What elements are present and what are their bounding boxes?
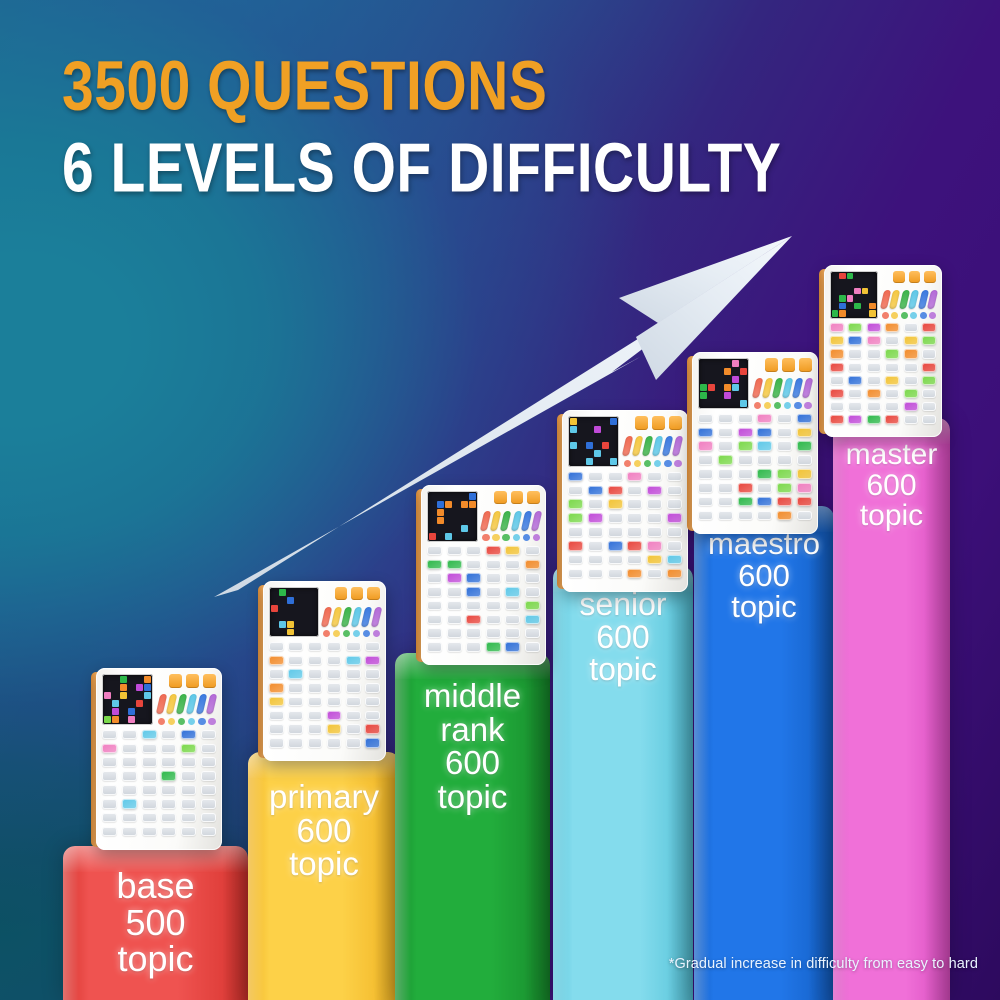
lcd-pixel <box>120 700 127 707</box>
lcd-pixel <box>862 310 868 317</box>
keypad-tile-empty <box>608 527 623 537</box>
lcd-pixel <box>716 400 723 407</box>
lcd-pixel <box>862 295 868 302</box>
keypad-tile-empty <box>288 738 303 748</box>
keypad-tile-empty <box>181 813 196 823</box>
lcd-pixel <box>287 629 294 636</box>
lcd-pixel <box>445 517 452 524</box>
keypad-tile-filled <box>505 587 520 597</box>
lcd-pixel <box>700 376 707 383</box>
device-dot-icon <box>804 402 811 409</box>
keypad-tile-empty <box>142 813 157 823</box>
keypad-tile-filled <box>848 376 862 385</box>
keypad-tile-empty <box>181 827 196 837</box>
lcd-pixel <box>854 273 860 280</box>
keypad-tile-filled <box>885 376 899 385</box>
keypad-tile-filled <box>667 555 682 565</box>
keypad-tile-empty <box>181 771 196 781</box>
device-dot-icon <box>774 402 781 409</box>
keypad-tile-empty <box>288 711 303 721</box>
keypad-tile-empty <box>848 402 862 411</box>
lcd-pixel <box>854 303 860 310</box>
keypad-tile-filled <box>738 428 753 438</box>
lcd-pixel <box>570 458 577 465</box>
lcd-pixel <box>602 434 609 441</box>
lcd-pixel <box>310 589 317 596</box>
lcd-pixel <box>839 280 845 287</box>
lcd-pixel <box>708 360 715 367</box>
device-dot-icon <box>901 312 908 319</box>
keypad-tile-filled <box>627 569 642 579</box>
keypad-tile-filled <box>777 497 792 507</box>
keypad-tile-empty <box>308 642 323 652</box>
keypad-tile-empty <box>201 730 216 740</box>
keypad-tile-empty <box>201 813 216 823</box>
keypad-tile-filled <box>867 389 881 398</box>
lcd-pixel <box>271 629 278 636</box>
device-button-icon <box>782 358 795 371</box>
lcd-pixel <box>429 525 436 532</box>
device-dot-icon <box>158 718 165 725</box>
lcd-pixel <box>847 273 853 280</box>
lcd-pixel <box>862 288 868 295</box>
device-inner <box>263 581 386 761</box>
device-dot-icon <box>674 460 681 467</box>
lcd-pixel <box>104 684 111 691</box>
device-button-icon <box>186 674 199 687</box>
keypad-tile-filled <box>427 560 442 570</box>
keypad-tile-empty <box>346 683 361 693</box>
bar-label-primary: primary600topic <box>248 780 400 881</box>
lcd-pixel <box>586 442 593 449</box>
lcd-pixel <box>610 458 617 465</box>
keypad-tile-empty <box>181 785 196 795</box>
keypad-tile-empty <box>738 455 753 465</box>
lcd-pixel <box>700 392 707 399</box>
lcd-pixel <box>144 692 151 699</box>
keypad-tile-filled <box>568 472 583 482</box>
keypad-tile-empty <box>922 415 936 424</box>
keypad-tile-filled <box>161 771 176 781</box>
lcd-pixel <box>869 273 875 280</box>
keypad-tile-empty <box>608 513 623 523</box>
keypad-tile-empty <box>122 771 137 781</box>
keypad-tile-filled <box>797 469 812 479</box>
keypad-tile-empty <box>525 642 540 652</box>
keypad-tile-empty <box>346 711 361 721</box>
headline-line-2: 6 LEVELS OF DIFFICULTY <box>62 134 781 204</box>
lcd-pixel <box>453 517 460 524</box>
keypad-tile-filled <box>718 455 733 465</box>
device-pill-icon <box>672 436 684 456</box>
keypad-tile-empty <box>427 601 442 611</box>
lcd-pixel <box>578 450 585 457</box>
lcd-pixel <box>724 384 731 391</box>
keypad-tile-empty <box>308 724 323 734</box>
lcd-pixel <box>295 589 302 596</box>
device-dot-icon <box>363 630 370 637</box>
keypad-tile-filled <box>830 323 844 332</box>
lcd-pixel <box>271 621 278 628</box>
keypad-tile-empty <box>142 799 157 809</box>
bar-level-name: primary <box>248 780 400 814</box>
lcd-pixel <box>700 368 707 375</box>
keypad-tile-empty <box>269 738 284 748</box>
keypad-tile-empty <box>486 628 501 638</box>
lcd-pixel <box>708 384 715 391</box>
keypad-tile-filled <box>777 483 792 493</box>
keypad-tile-empty <box>777 414 792 424</box>
keypad-tile-empty <box>627 555 642 565</box>
keypad-tile-empty <box>568 569 583 579</box>
lcd-pixel <box>469 509 476 516</box>
keypad-tile-empty <box>797 511 812 521</box>
keypad-tile-empty <box>102 813 117 823</box>
keypad-tile-filled <box>904 336 918 345</box>
device-color-pills <box>754 375 812 399</box>
keypad-tile-empty <box>447 601 462 611</box>
keypad-tile-empty <box>647 513 662 523</box>
lcd-pixel <box>445 493 452 500</box>
keypad-tile-empty <box>757 455 772 465</box>
keypad-tile-filled <box>698 428 713 438</box>
headline-line-1: 3500 QUESTIONS <box>62 52 781 122</box>
lcd-pixel <box>708 392 715 399</box>
bar-middle-rank: middlerank600topic <box>395 653 550 1000</box>
lcd-pixel <box>740 392 747 399</box>
lcd-pixel <box>832 288 838 295</box>
keypad-tile-empty <box>718 469 733 479</box>
keypad-tile-empty <box>365 683 380 693</box>
keypad-tile-empty <box>647 527 662 537</box>
lcd-pixel <box>437 509 444 516</box>
lcd-pixel <box>570 442 577 449</box>
device-color-pills <box>882 286 936 309</box>
device-inner <box>421 485 546 665</box>
keypad-tile-empty <box>122 744 137 754</box>
lcd-pixel <box>437 501 444 508</box>
keypad-tile-empty <box>647 569 662 579</box>
lcd-pixel <box>832 310 838 317</box>
keypad-tile-empty <box>525 546 540 555</box>
keypad-tile-empty <box>161 730 176 740</box>
keypad-tile-empty <box>308 711 323 721</box>
device-button-icon <box>511 491 524 504</box>
lcd-pixel <box>461 501 468 508</box>
keypad-tile-empty <box>848 389 862 398</box>
keypad-tile-empty <box>466 560 481 570</box>
headline-block: 3500 QUESTIONS 6 LEVELS OF DIFFICULTY <box>62 52 781 191</box>
keypad-tile-empty <box>568 555 583 565</box>
device-controls <box>624 416 682 467</box>
bar-level-name: senior <box>553 588 693 621</box>
keypad-tile-filled <box>738 483 753 493</box>
lcd-pixel <box>832 280 838 287</box>
device-dot-icon <box>882 312 889 319</box>
lcd-pixel <box>310 629 317 636</box>
keypad-tile-empty <box>161 813 176 823</box>
keypad-tile-empty <box>142 827 157 837</box>
device-controls <box>482 491 539 541</box>
device-dot-icon <box>178 718 185 725</box>
device-keypad <box>698 414 811 521</box>
keypad-tile-empty <box>269 724 284 734</box>
keypad-tile-filled <box>588 486 603 496</box>
keypad-tile-empty <box>667 541 682 551</box>
keypad-tile-filled <box>830 389 844 398</box>
device-top-row <box>269 587 380 637</box>
keypad-tile-filled <box>922 323 936 332</box>
keypad-tile-filled <box>142 730 157 740</box>
lcd-pixel <box>128 684 135 691</box>
lcd-pixel <box>740 376 747 383</box>
lcd-pixel <box>302 597 309 604</box>
lcd-pixel <box>279 605 286 612</box>
lcd-pixel <box>594 418 601 425</box>
lcd-pixel <box>578 426 585 433</box>
keypad-tile-filled <box>738 497 753 507</box>
device-dot-icon <box>929 312 936 319</box>
lcd-pixel <box>724 392 731 399</box>
keypad-tile-filled <box>738 441 753 451</box>
lcd-pixel <box>586 426 593 433</box>
device-button-icon <box>169 674 182 687</box>
keypad-tile-empty <box>427 546 442 555</box>
lcd-pixel <box>453 493 460 500</box>
bar-label-senior: senior600topic <box>553 588 693 686</box>
device-pill-icon <box>370 607 382 627</box>
lcd-pixel <box>302 613 309 620</box>
device-keypad <box>830 323 936 424</box>
keypad-tile-empty <box>161 799 176 809</box>
keypad-tile-empty <box>505 573 520 583</box>
lcd-pixel <box>570 418 577 425</box>
lcd-pixel <box>128 676 135 683</box>
keypad-tile-empty <box>269 669 284 679</box>
keypad-tile-empty <box>346 697 361 707</box>
lcd-pixel <box>602 458 609 465</box>
keypad-tile-empty <box>867 402 881 411</box>
keypad-tile-empty <box>102 827 117 837</box>
keypad-tile-empty <box>777 455 792 465</box>
keypad-tile-empty <box>568 527 583 537</box>
keypad-tile-empty <box>830 376 844 385</box>
keypad-tile-filled <box>797 441 812 451</box>
keypad-tile-filled <box>327 711 342 721</box>
lcd-pixel <box>716 360 723 367</box>
keypad-tile-empty <box>667 486 682 496</box>
lcd-pixel <box>602 450 609 457</box>
lcd-pixel <box>847 310 853 317</box>
keypad-tile-empty <box>867 363 881 372</box>
keypad-tile-empty <box>738 414 753 424</box>
bar-topic-count: 600 <box>553 621 693 654</box>
lcd-pixel <box>847 303 853 310</box>
keypad-tile-filled <box>797 497 812 507</box>
keypad-tile-empty <box>830 402 844 411</box>
keypad-tile-empty <box>122 785 137 795</box>
lcd-pixel <box>578 434 585 441</box>
keypad-tile-empty <box>288 724 303 734</box>
device-dot-icon <box>168 718 175 725</box>
puzzle-device-senior <box>562 410 688 592</box>
keypad-tile-empty <box>308 656 323 666</box>
lcd-pixel <box>120 716 127 723</box>
lcd-pixel <box>839 310 845 317</box>
lcd-pixel <box>453 501 460 508</box>
lcd-pixel <box>287 589 294 596</box>
keypad-tile-empty <box>885 402 899 411</box>
lcd-pixel <box>295 621 302 628</box>
bar-topic-unit: topic <box>248 847 400 881</box>
lcd-pixel <box>740 384 747 391</box>
keypad-tile-empty <box>667 472 682 482</box>
keypad-tile-empty <box>848 363 862 372</box>
lcd-pixel <box>136 708 143 715</box>
device-indicator-dots <box>482 534 539 541</box>
bar-label-base: base500topic <box>63 868 248 978</box>
device-button-icon <box>335 587 347 600</box>
keypad-tile-empty <box>327 642 342 652</box>
lcd-pixel <box>429 501 436 508</box>
lcd-pixel <box>862 280 868 287</box>
keypad-tile-empty <box>466 546 481 555</box>
lcd-pixel <box>136 716 143 723</box>
footnote-text: *Gradual increase in difficulty from eas… <box>669 956 978 972</box>
lcd-pixel <box>862 273 868 280</box>
lcd-pixel <box>445 509 452 516</box>
device-button-icon <box>652 416 665 429</box>
keypad-tile-filled <box>867 323 881 332</box>
keypad-tile-empty <box>466 601 481 611</box>
bar-level-name: master <box>833 440 950 471</box>
lcd-pixel <box>469 533 476 540</box>
device-dot-icon <box>654 460 661 467</box>
keypad-tile-empty <box>427 628 442 638</box>
device-dot-icon <box>492 534 499 541</box>
keypad-tile-empty <box>608 555 623 565</box>
device-button-icon <box>203 674 216 687</box>
keypad-tile-filled <box>904 389 918 398</box>
keypad-tile-filled <box>588 513 603 523</box>
keypad-tile-empty <box>447 546 462 555</box>
device-pill-icon <box>927 290 938 309</box>
bar-base: base500topic <box>63 846 248 1000</box>
lcd-pixel <box>136 692 143 699</box>
lcd-pixel <box>724 400 731 407</box>
device-indicator-dots <box>158 718 216 725</box>
keypad-tile-empty <box>201 771 216 781</box>
lcd-pixel <box>445 525 452 532</box>
keypad-tile-filled <box>667 569 682 579</box>
lcd-pixel <box>854 310 860 317</box>
device-top-row <box>568 416 681 467</box>
bar-master: master600topic <box>833 418 950 1000</box>
keypad-tile-filled <box>608 486 623 496</box>
keypad-tile-empty <box>308 697 323 707</box>
keypad-tile-empty <box>288 683 303 693</box>
poster-canvas: 3500 QUESTIONS 6 LEVELS OF DIFFICULTY ba… <box>0 0 1000 1000</box>
lcd-pixel <box>570 426 577 433</box>
keypad-tile-empty <box>885 336 899 345</box>
lcd-pixel <box>732 368 739 375</box>
lcd-pixel <box>271 589 278 596</box>
device-dot-icon <box>920 312 927 319</box>
device-button-icon <box>494 491 507 504</box>
device-lcd-screen <box>102 674 153 725</box>
keypad-tile-filled <box>757 428 772 438</box>
keypad-tile-empty <box>718 441 733 451</box>
keypad-tile-filled <box>885 415 899 424</box>
keypad-tile-empty <box>308 738 323 748</box>
keypad-tile-empty <box>447 587 462 597</box>
lcd-pixel <box>578 442 585 449</box>
keypad-tile-filled <box>346 656 361 666</box>
lcd-pixel <box>732 384 739 391</box>
keypad-tile-empty <box>161 827 176 837</box>
keypad-tile-empty <box>627 527 642 537</box>
lcd-pixel <box>839 288 845 295</box>
bar-topic-unit: topic <box>63 941 248 978</box>
keypad-tile-filled <box>608 541 623 551</box>
keypad-tile-filled <box>647 555 662 565</box>
keypad-tile-filled <box>757 497 772 507</box>
keypad-tile-filled <box>777 469 792 479</box>
device-controls <box>323 587 379 637</box>
lcd-pixel <box>128 708 135 715</box>
keypad-tile-filled <box>486 546 501 555</box>
device-orange-buttons <box>158 674 216 687</box>
bar-topic-count: 600 <box>694 560 834 592</box>
keypad-tile-empty <box>427 587 442 597</box>
device-inner <box>562 410 688 592</box>
lcd-pixel <box>310 613 317 620</box>
keypad-tile-empty <box>269 642 284 652</box>
device-color-pills <box>323 603 379 627</box>
keypad-tile-empty <box>922 389 936 398</box>
lcd-pixel <box>740 400 747 407</box>
lcd-pixel <box>839 295 845 302</box>
keypad-tile-filled <box>466 587 481 597</box>
keypad-tile-filled <box>447 560 462 570</box>
lcd-pixel <box>144 684 151 691</box>
keypad-tile-empty <box>308 669 323 679</box>
keypad-tile-filled <box>466 615 481 625</box>
device-dot-icon <box>188 718 195 725</box>
keypad-tile-filled <box>922 363 936 372</box>
bar-topic-unit: topic <box>553 653 693 686</box>
lcd-pixel <box>295 613 302 620</box>
bar-topic-count: 600 <box>248 814 400 848</box>
bar-topic-unit: topic <box>395 780 550 814</box>
lcd-pixel <box>854 288 860 295</box>
lcd-pixel <box>461 509 468 516</box>
device-button-icon <box>527 491 540 504</box>
lcd-pixel <box>570 450 577 457</box>
lcd-pixel <box>610 426 617 433</box>
lcd-pixel <box>453 525 460 532</box>
keypad-tile-empty <box>588 555 603 565</box>
keypad-tile-empty <box>486 601 501 611</box>
keypad-tile-filled <box>181 730 196 740</box>
lcd-pixel <box>602 418 609 425</box>
keypad-tile-filled <box>269 697 284 707</box>
keypad-tile-filled <box>830 336 844 345</box>
device-lcd-screen <box>698 358 749 409</box>
lcd-pixel <box>594 458 601 465</box>
bar-maestro: maestro600topic <box>694 506 834 1000</box>
device-dot-icon <box>910 312 917 319</box>
